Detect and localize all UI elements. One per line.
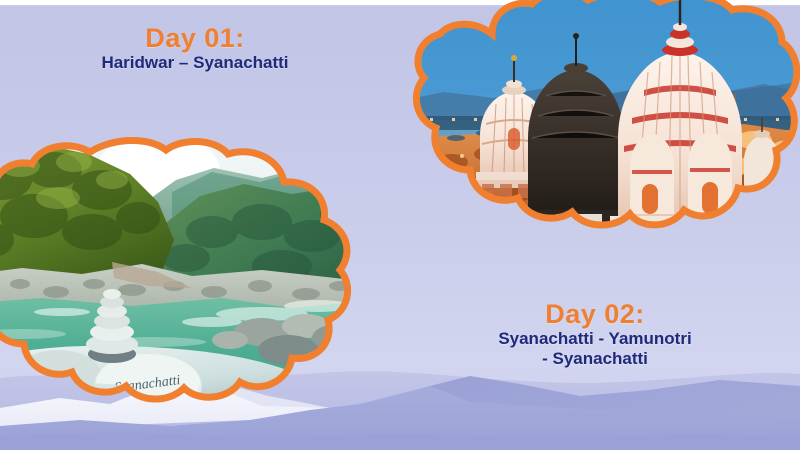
- day-02-subtitle-line-2: - Syanachatti: [400, 349, 790, 368]
- day-02-title: Day 02:: [400, 300, 790, 328]
- day-02-text-block: Day 02: Syanachatti - Yamunotri - Syanac…: [400, 300, 790, 368]
- photo-frame-haridwar-temples[interactable]: [404, 0, 800, 280]
- presentation-slide: यमुनोत्री Syanachatti: [0, 0, 800, 450]
- haridwar-temples-photo: [404, 0, 800, 280]
- day-01-title: Day 01:: [0, 24, 390, 52]
- river-valley-photo: यमुनोत्री Syanachatti: [0, 136, 354, 404]
- foreground-wave-shape: [0, 432, 800, 450]
- day-02-subtitle-line-1: Syanachatti - Yamunotri: [400, 329, 790, 348]
- day-01-text-block: Day 01: Haridwar – Syanachatti: [0, 24, 390, 72]
- photo-frame-river-valley[interactable]: यमुनोत्री Syanachatti: [0, 136, 354, 404]
- day-01-subtitle: Haridwar – Syanachatti: [0, 53, 390, 72]
